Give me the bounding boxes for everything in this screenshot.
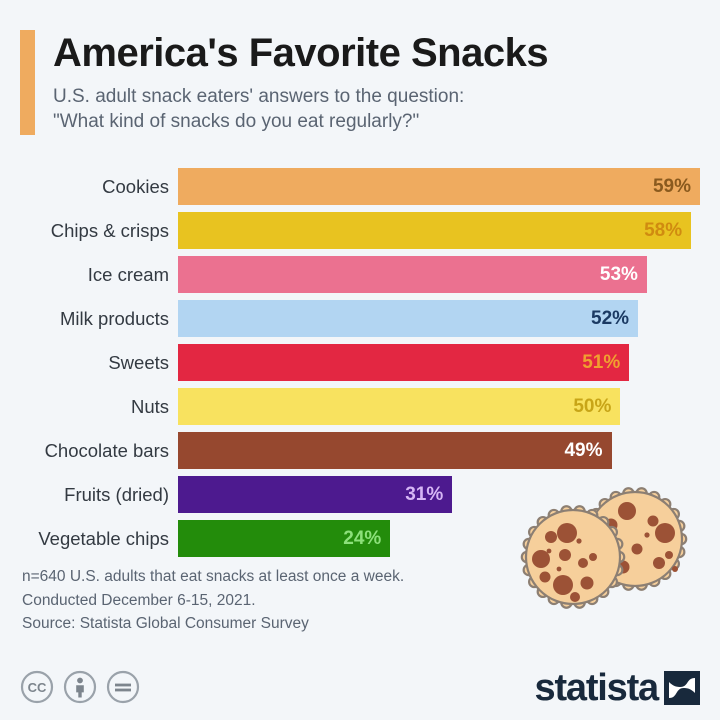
bar: 49% bbox=[178, 432, 612, 469]
bar-value-label: 59% bbox=[653, 176, 691, 198]
bar: 58% bbox=[178, 212, 691, 249]
category-label: Ice cream bbox=[0, 264, 178, 286]
cookie-front bbox=[522, 506, 624, 607]
header-text: America's Favorite Snacks U.S. adult sna… bbox=[53, 30, 548, 135]
bar-row: Chips & crisps58% bbox=[0, 212, 720, 249]
bar-row: Nuts50% bbox=[0, 388, 720, 425]
bar-row: Cookies59% bbox=[0, 168, 720, 205]
title-accent-bar bbox=[20, 30, 35, 135]
cc-nd-equals-icon bbox=[106, 670, 140, 704]
cc-icon: CC bbox=[20, 670, 54, 704]
category-label: Sweets bbox=[0, 352, 178, 374]
subtitle-line-2: "What kind of snacks do you eat regularl… bbox=[53, 109, 548, 134]
bar-value-label: 52% bbox=[591, 308, 629, 330]
page-title: America's Favorite Snacks bbox=[53, 32, 548, 75]
category-label: Vegetable chips bbox=[0, 528, 178, 550]
bar-track: 52% bbox=[178, 300, 720, 337]
bar-value-label: 58% bbox=[644, 220, 682, 242]
bar-value-label: 50% bbox=[573, 396, 611, 418]
chocolate-chip-cookies-illustration bbox=[505, 487, 710, 612]
category-label: Fruits (dried) bbox=[0, 484, 178, 506]
category-label: Chips & crisps bbox=[0, 220, 178, 242]
bar-row: Chocolate bars49% bbox=[0, 432, 720, 469]
bar-value-label: 31% bbox=[405, 484, 443, 506]
bar: 31% bbox=[178, 476, 452, 513]
category-label: Cookies bbox=[0, 176, 178, 198]
bar: 24% bbox=[178, 520, 390, 557]
bar-row: Sweets51% bbox=[0, 344, 720, 381]
header: America's Favorite Snacks U.S. adult sna… bbox=[20, 30, 700, 135]
bar: 59% bbox=[178, 168, 700, 205]
bar: 53% bbox=[178, 256, 647, 293]
bar-value-label: 53% bbox=[600, 264, 638, 286]
category-label: Nuts bbox=[0, 396, 178, 418]
footnote-sample-size: n=640 U.S. adults that eat snacks at lea… bbox=[22, 565, 482, 589]
bar: 51% bbox=[178, 344, 629, 381]
statista-logo: statista bbox=[535, 668, 702, 708]
bar: 52% bbox=[178, 300, 638, 337]
footnotes: n=640 U.S. adults that eat snacks at lea… bbox=[22, 565, 482, 636]
svg-text:CC: CC bbox=[28, 680, 47, 695]
statista-wordmark: statista bbox=[535, 669, 658, 707]
footnote-conducted-date: Conducted December 6-15, 2021. bbox=[22, 589, 482, 613]
footer: CC statista bbox=[0, 658, 720, 720]
bar-row: Milk products52% bbox=[0, 300, 720, 337]
bar-value-label: 49% bbox=[564, 440, 602, 462]
bar-value-label: 24% bbox=[343, 528, 381, 550]
bar-track: 49% bbox=[178, 432, 720, 469]
bar-track: 50% bbox=[178, 388, 720, 425]
category-label: Chocolate bars bbox=[0, 440, 178, 462]
footnote-source: Source: Statista Global Consumer Survey bbox=[22, 612, 482, 636]
creative-commons-icons: CC bbox=[20, 670, 140, 704]
bar-value-label: 51% bbox=[582, 352, 620, 374]
cc-by-person-icon bbox=[63, 670, 97, 704]
bar-track: 58% bbox=[178, 212, 720, 249]
bar-track: 51% bbox=[178, 344, 720, 381]
bar: 50% bbox=[178, 388, 620, 425]
bar-track: 59% bbox=[178, 168, 720, 205]
statista-infographic: America's Favorite Snacks U.S. adult sna… bbox=[0, 0, 720, 720]
statista-logo-mark bbox=[662, 668, 702, 708]
category-label: Milk products bbox=[0, 308, 178, 330]
subtitle-line-1: U.S. adult snack eaters' answers to the … bbox=[53, 84, 548, 109]
bar-track: 53% bbox=[178, 256, 720, 293]
bar-row: Ice cream53% bbox=[0, 256, 720, 293]
